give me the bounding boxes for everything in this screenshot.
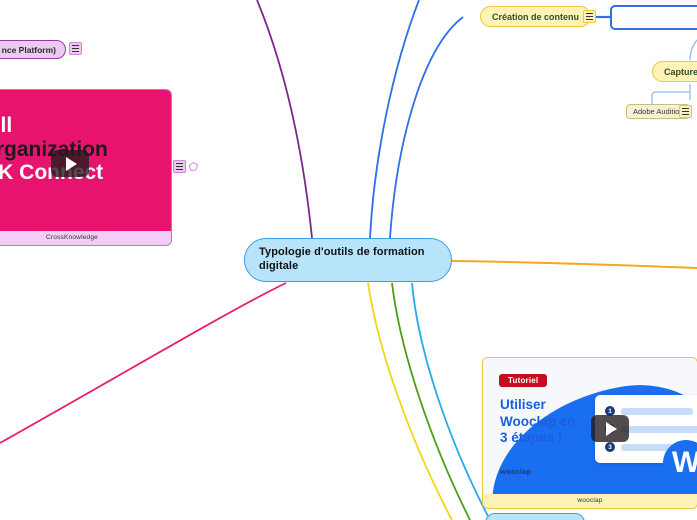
edge-root-down-cyan	[412, 283, 490, 520]
wooclap-thumbnail[interactable]: Tutoriel Utiliser Wooclap en 3 étapes ! …	[483, 358, 697, 494]
node-empty-blue-box[interactable]	[610, 5, 697, 30]
crossknowledge-caption: CrossKnowledge	[0, 231, 171, 245]
node-bottom-partial[interactable]	[485, 513, 585, 520]
card-crossknowledge[interactable]: kill organization CK Connect CrossKnowle…	[0, 89, 172, 246]
play-icon[interactable]	[51, 150, 89, 177]
wooclap-logo: wooclap	[500, 467, 531, 476]
edge-root-to-creation	[390, 17, 463, 238]
crossknowledge-thumb-line1: kill	[0, 114, 165, 138]
wooclap-caption: wooclap	[483, 494, 697, 508]
wooclap-step-bar	[621, 408, 693, 415]
hamburger-menu-icon[interactable]	[173, 160, 186, 173]
wooclap-badge: Tutoriel	[499, 374, 547, 387]
edge-root-to-lxp	[257, 0, 312, 238]
node-creation-de-contenu[interactable]: Création de contenu	[480, 6, 591, 27]
edge-capture-to-audition	[652, 92, 690, 104]
mindmap-canvas[interactable]: Typologie d'outils de formation digitale…	[0, 0, 697, 520]
node-capture[interactable]: Capture	[652, 61, 697, 82]
node-lxp-platform[interactable]: nce Platform)	[0, 40, 66, 59]
wooclap-step-number: 3	[605, 442, 615, 452]
edge-root-down-green	[392, 283, 470, 520]
wooclap-title: Utiliser Wooclap en 3 étapes !	[500, 397, 576, 447]
edge-capture-in	[690, 40, 697, 60]
edge-root-down-yellow	[368, 283, 452, 520]
node-creation-de-contenu-label: Création de contenu	[492, 12, 579, 22]
root-node[interactable]: Typologie d'outils de formation digitale	[244, 238, 452, 282]
root-node-label: Typologie d'outils de formation digitale	[259, 246, 437, 274]
wooclap-title-line3: 3 étapes !	[500, 430, 576, 447]
card-wooclap[interactable]: Tutoriel Utiliser Wooclap en 3 étapes ! …	[482, 357, 697, 509]
wooclap-step-bar	[621, 426, 697, 433]
edge-root-to-crossknowledge	[0, 283, 286, 443]
play-icon[interactable]	[591, 415, 629, 442]
node-capture-label: Capture	[664, 67, 697, 77]
wooclap-step-row: 3	[605, 442, 675, 452]
crossknowledge-thumbnail[interactable]: kill organization CK Connect	[0, 90, 171, 231]
edge-root-blue-1	[370, 0, 419, 238]
hamburger-menu-icon[interactable]	[69, 42, 82, 55]
node-lxp-platform-label: nce Platform)	[2, 45, 56, 55]
node-adobe-audition-label: Adobe Audition	[633, 107, 683, 116]
edge-root-right-orange	[452, 261, 697, 268]
hamburger-menu-icon[interactable]	[679, 105, 692, 118]
wooclap-title-line1: Utiliser	[500, 397, 576, 414]
wooclap-title-line2: Wooclap en	[500, 414, 576, 431]
hamburger-menu-icon[interactable]	[583, 10, 596, 23]
tag-icon[interactable]	[188, 161, 199, 172]
